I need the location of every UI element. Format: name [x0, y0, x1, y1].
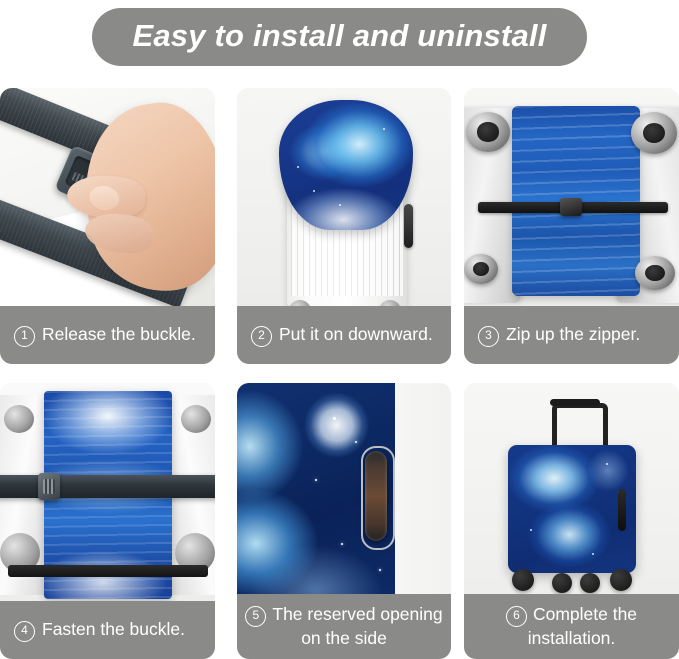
sparkle	[333, 417, 336, 420]
covered-suitcase	[508, 445, 636, 573]
caption-label-6-line2: installation.	[528, 628, 616, 648]
suitcase-wheel	[610, 569, 632, 591]
step-caption-3: 3Zip up the zipper.	[464, 306, 679, 364]
step-image-2	[237, 88, 451, 306]
sparkle	[379, 569, 381, 571]
step-panel-3: 3Zip up the zipper.	[464, 88, 679, 364]
sparkle	[355, 441, 357, 443]
suitcase-side-handle	[404, 204, 413, 248]
suitcase-wheel	[631, 112, 677, 154]
step-caption-1: 1Release the buckle.	[0, 306, 215, 364]
caption-text-3: 3Zip up the zipper.	[478, 323, 640, 347]
sparkle	[297, 166, 299, 168]
step-caption-5: 5The reserved openingon the side	[237, 594, 451, 659]
step-number-2: 2	[251, 326, 272, 347]
suitcase-wheel	[4, 405, 34, 433]
step-number-1: 1	[14, 326, 35, 347]
sparkle	[606, 463, 608, 465]
step-caption-2: 2Put it on downward.	[237, 306, 451, 364]
step-cell-6: 6Complete theinstallation.	[452, 383, 679, 659]
step-cell-4: 4Fasten the buckle.	[0, 383, 223, 659]
caption-text-2: 2Put it on downward.	[251, 323, 433, 347]
infographic-sheet: Easy to install and uninstall	[0, 0, 679, 659]
step-cell-2: 2Put it on downward.	[223, 88, 452, 364]
suitcase-base-bar	[8, 565, 208, 577]
butterfly-luggage-cover	[279, 100, 413, 230]
caption-label-3: Zip up the zipper.	[506, 324, 640, 344]
suitcase-wheel	[466, 112, 510, 152]
caption-label-6-line1: Complete the	[533, 604, 637, 624]
caption-label-5-line2: on the side	[301, 628, 387, 648]
step-panel-2: 2Put it on downward.	[237, 88, 451, 364]
step-number-5: 5	[245, 606, 266, 627]
step-number-3: 3	[478, 326, 499, 347]
caption-text-1: 1Release the buckle.	[14, 323, 196, 347]
suitcase-wheel	[181, 405, 211, 433]
suitcase-side-handle	[618, 489, 626, 531]
suitcase-wheel	[464, 254, 498, 284]
caption-label-5-line1: The reserved opening	[272, 604, 442, 624]
header-pill: Easy to install and uninstall	[92, 8, 586, 66]
step-image-4	[0, 383, 215, 601]
steps-grid: 1Release the buckle.	[0, 88, 679, 659]
caption-text-5: 5The reserved openingon the side	[245, 603, 443, 650]
step-image-5	[237, 383, 451, 594]
sparkle	[341, 543, 343, 545]
suitcase-wheel	[635, 256, 675, 290]
step-cell-5: 5The reserved openingon the side	[223, 383, 452, 659]
step-panel-1: 1Release the buckle.	[0, 88, 215, 364]
sparkle	[313, 190, 315, 192]
header: Easy to install and uninstall	[0, 8, 679, 66]
sparkle	[315, 479, 317, 481]
step-panel-6: 6Complete theinstallation.	[464, 383, 679, 659]
suitcase-wheel	[552, 573, 572, 593]
zipper-pull	[560, 198, 582, 216]
strap-buckle	[38, 473, 60, 500]
step-panel-4: 4Fasten the buckle.	[0, 383, 215, 659]
sparkle	[592, 553, 594, 555]
suitcase-side-handle	[365, 451, 387, 541]
step-caption-4: 4Fasten the buckle.	[0, 601, 215, 659]
suitcase-wheel	[580, 573, 600, 593]
step-panel-5: 5The reserved openingon the side	[237, 383, 451, 659]
step-image-3	[464, 88, 679, 306]
caption-text-4: 4Fasten the buckle.	[14, 618, 185, 642]
step-image-1	[0, 88, 215, 306]
telescoping-handle-grip	[550, 399, 600, 406]
sparkle	[530, 529, 532, 531]
suitcase-wheel	[512, 569, 534, 591]
suitcase-side-surface	[395, 383, 451, 594]
luggage-strap	[0, 475, 215, 498]
step-caption-6: 6Complete theinstallation.	[464, 594, 679, 659]
step-number-6: 6	[506, 606, 527, 627]
caption-text-6: 6Complete theinstallation.	[472, 603, 671, 650]
step-cell-1: 1Release the buckle.	[0, 88, 223, 364]
caption-label-2: Put it on downward.	[279, 324, 433, 344]
caption-label-1: Release the buckle.	[42, 324, 196, 344]
step-number-4: 4	[14, 621, 35, 642]
step-image-6	[464, 383, 679, 594]
caption-label-4: Fasten the buckle.	[42, 619, 185, 639]
page-title: Easy to install and uninstall	[132, 18, 546, 53]
sparkle	[383, 128, 385, 130]
sparkle	[339, 204, 341, 206]
step-cell-3: 3Zip up the zipper.	[452, 88, 679, 364]
